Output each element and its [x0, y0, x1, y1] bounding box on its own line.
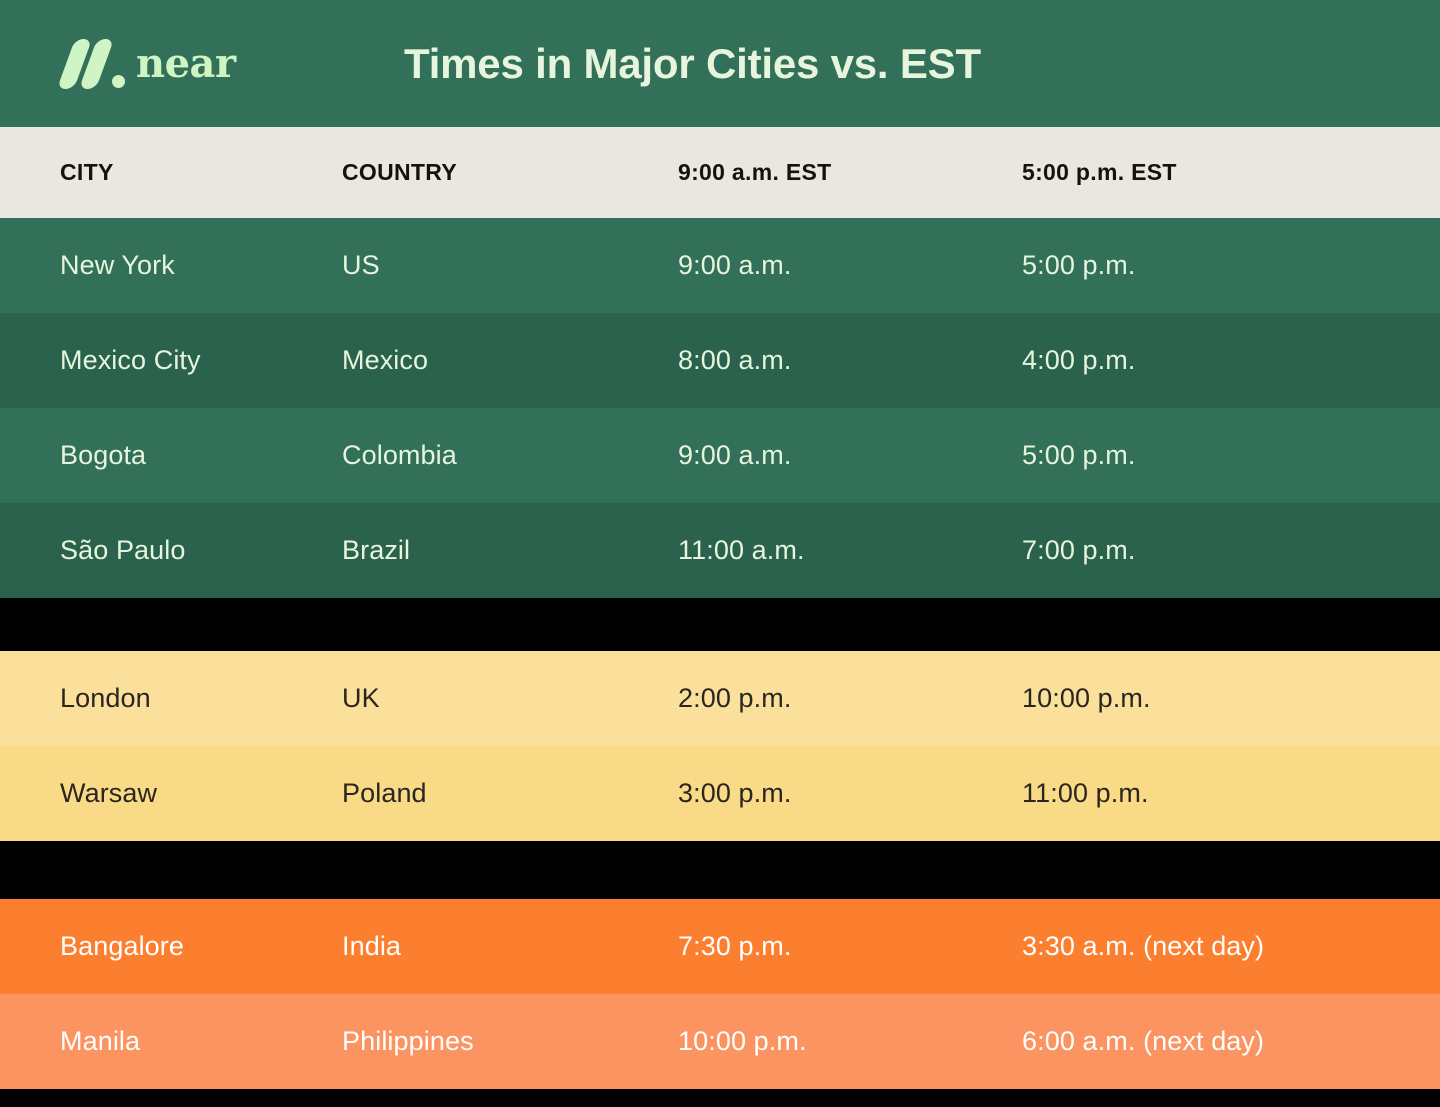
table-row: London UK 2:00 p.m. 10:00 p.m. — [0, 651, 1440, 746]
cell-time-5pm: 10:00 p.m. — [1022, 683, 1380, 714]
cell-time-5pm: 5:00 p.m. — [1022, 250, 1380, 281]
page-title: Times in Major Cities vs. EST — [404, 0, 981, 127]
table-row: New York US 9:00 a.m. 5:00 p.m. — [0, 218, 1440, 313]
cell-city: Manila — [0, 1026, 342, 1057]
cell-time-5pm: 5:00 p.m. — [1022, 440, 1380, 471]
cell-country: US — [342, 250, 678, 281]
cell-country: Colombia — [342, 440, 678, 471]
logo-dot-icon — [112, 75, 125, 88]
cell-country: Mexico — [342, 345, 678, 376]
cell-country: Philippines — [342, 1026, 678, 1057]
cell-city: Bogota — [0, 440, 342, 471]
cell-time-5pm: 11:00 p.m. — [1022, 778, 1380, 809]
near-logo: near — [58, 36, 236, 92]
cell-time-9am: 9:00 a.m. — [678, 250, 1022, 281]
cell-time-9am: 3:00 p.m. — [678, 778, 1022, 809]
column-header-country: COUNTRY — [342, 159, 678, 186]
cell-city: New York — [0, 250, 342, 281]
table-row: Bangalore India 7:30 p.m. 3:30 a.m. (nex… — [0, 899, 1440, 994]
cell-time-9am: 9:00 a.m. — [678, 440, 1022, 471]
cell-time-5pm: 4:00 p.m. — [1022, 345, 1380, 376]
cell-city: London — [0, 683, 342, 714]
table-row: São Paulo Brazil 11:00 a.m. 7:00 p.m. — [0, 503, 1440, 598]
cell-country: UK — [342, 683, 678, 714]
cell-city: Mexico City — [0, 345, 342, 376]
cell-country: Poland — [342, 778, 678, 809]
cell-time-9am: 8:00 a.m. — [678, 345, 1022, 376]
table-row: Bogota Colombia 9:00 a.m. 5:00 p.m. — [0, 408, 1440, 503]
table-row: Mexico City Mexico 8:00 a.m. 4:00 p.m. — [0, 313, 1440, 408]
logo-wordmark: near — [136, 44, 236, 84]
cell-time-9am: 10:00 p.m. — [678, 1026, 1022, 1057]
column-header-5pm-est: 5:00 p.m. EST — [1022, 159, 1380, 186]
group-separator — [0, 841, 1440, 899]
infographic-page: near Times in Major Cities vs. EST CITY … — [0, 0, 1440, 1107]
table-row: Manila Philippines 10:00 p.m. 6:00 a.m. … — [0, 994, 1440, 1089]
timezone-table: CITY COUNTRY 9:00 a.m. EST 5:00 p.m. EST… — [0, 127, 1440, 1089]
column-header-city: CITY — [0, 159, 342, 186]
group-separator — [0, 598, 1440, 651]
cell-time-5pm: 7:00 p.m. — [1022, 535, 1380, 566]
near-logo-mark-icon — [58, 39, 130, 89]
cell-city: Bangalore — [0, 931, 342, 962]
cell-country: India — [342, 931, 678, 962]
cell-city: São Paulo — [0, 535, 342, 566]
cell-time-5pm: 3:30 a.m. (next day) — [1022, 931, 1380, 962]
cell-time-9am: 11:00 a.m. — [678, 535, 1022, 566]
table-row: Warsaw Poland 3:00 p.m. 11:00 p.m. — [0, 746, 1440, 841]
table-header-row: CITY COUNTRY 9:00 a.m. EST 5:00 p.m. EST — [0, 127, 1440, 218]
cell-time-9am: 7:30 p.m. — [678, 931, 1022, 962]
cell-country: Brazil — [342, 535, 678, 566]
cell-time-9am: 2:00 p.m. — [678, 683, 1022, 714]
header-banner: near Times in Major Cities vs. EST — [0, 0, 1440, 127]
cell-time-5pm: 6:00 a.m. (next day) — [1022, 1026, 1380, 1057]
cell-city: Warsaw — [0, 778, 342, 809]
column-header-9am-est: 9:00 a.m. EST — [678, 159, 1022, 186]
